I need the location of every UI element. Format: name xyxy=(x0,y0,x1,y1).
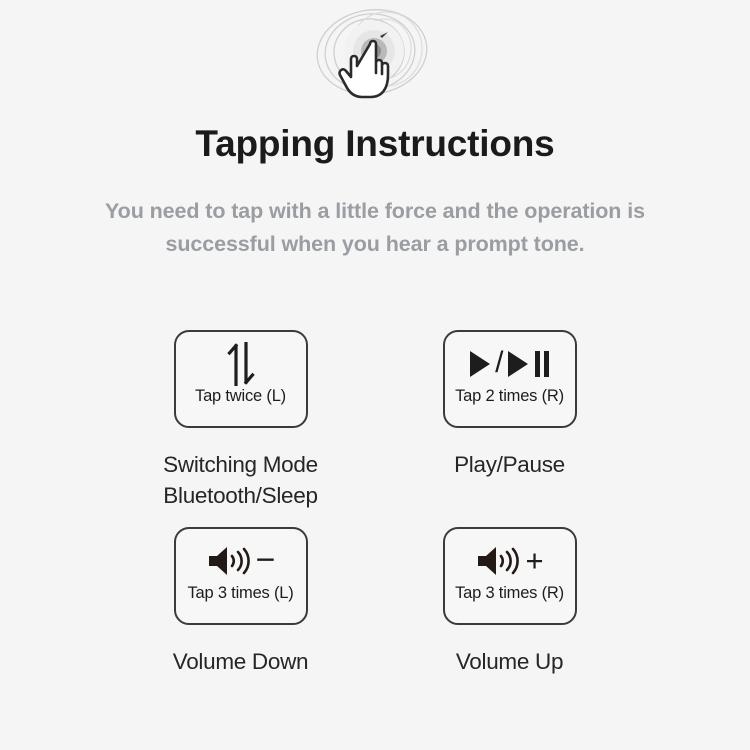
play-pause-icon-group: / xyxy=(470,341,549,387)
plus-sign: + xyxy=(525,545,543,576)
header-icon-container xyxy=(0,0,750,118)
instructions-row-2: − Tap 3 times (L) Volume Down xyxy=(0,527,750,677)
instruction-item-volume-down: − Tap 3 times (L) Volume Down xyxy=(106,527,375,677)
up-down-arrow-icon xyxy=(224,341,258,387)
instructions-grid: Tap twice (L) Switching Mode Bluetooth/S… xyxy=(0,330,750,677)
volume-up-icon-group: + xyxy=(475,538,543,584)
instruction-card-label: Tap 2 times (R) xyxy=(455,388,564,405)
caption-line-1: Switching Mode xyxy=(163,449,318,480)
instruction-card-play-pause[interactable]: / Tap 2 times (R) xyxy=(443,330,577,428)
minus-sign: − xyxy=(256,543,276,577)
instruction-caption-play-pause: Play/Pause xyxy=(454,449,565,480)
tap-hand-ripple-icon xyxy=(300,4,450,116)
slash-separator: / xyxy=(495,348,503,378)
play-icon-2 xyxy=(508,351,528,377)
instruction-caption-volume-down: Volume Down xyxy=(173,646,309,677)
volume-down-icon-group: − xyxy=(206,538,276,584)
instruction-caption-switching-mode: Switching Mode Bluetooth/Sleep xyxy=(163,449,318,511)
instruction-card-switching-mode[interactable]: Tap twice (L) xyxy=(174,330,308,428)
instruction-item-volume-up: + Tap 3 times (R) Volume Up xyxy=(375,527,644,677)
speaker-icon xyxy=(206,544,252,578)
instruction-item-play-pause: / Tap 2 times (R) Play/Pause xyxy=(375,330,644,480)
caption-line-2: Bluetooth/Sleep xyxy=(163,480,318,511)
page-title: Tapping Instructions xyxy=(0,124,750,165)
caption-line-1: Volume Up xyxy=(456,646,563,677)
caption-line-1: Volume Down xyxy=(173,646,309,677)
caption-line-1: Play/Pause xyxy=(454,449,565,480)
instruction-item-switching-mode: Tap twice (L) Switching Mode Bluetooth/S… xyxy=(106,330,375,511)
instruction-card-volume-up[interactable]: + Tap 3 times (R) xyxy=(443,527,577,625)
instruction-caption-volume-up: Volume Up xyxy=(456,646,563,677)
instruction-card-label: Tap twice (L) xyxy=(195,388,286,405)
speaker-icon xyxy=(475,544,521,578)
page-subtitle: You need to tap with a little force and … xyxy=(75,195,675,262)
instruction-card-label: Tap 3 times (R) xyxy=(455,585,564,602)
instruction-card-volume-down[interactable]: − Tap 3 times (L) xyxy=(174,527,308,625)
instructions-row-1: Tap twice (L) Switching Mode Bluetooth/S… xyxy=(0,330,750,511)
play-icon xyxy=(470,351,490,377)
instruction-card-label: Tap 3 times (L) xyxy=(187,585,293,602)
pause-icon xyxy=(535,351,549,377)
